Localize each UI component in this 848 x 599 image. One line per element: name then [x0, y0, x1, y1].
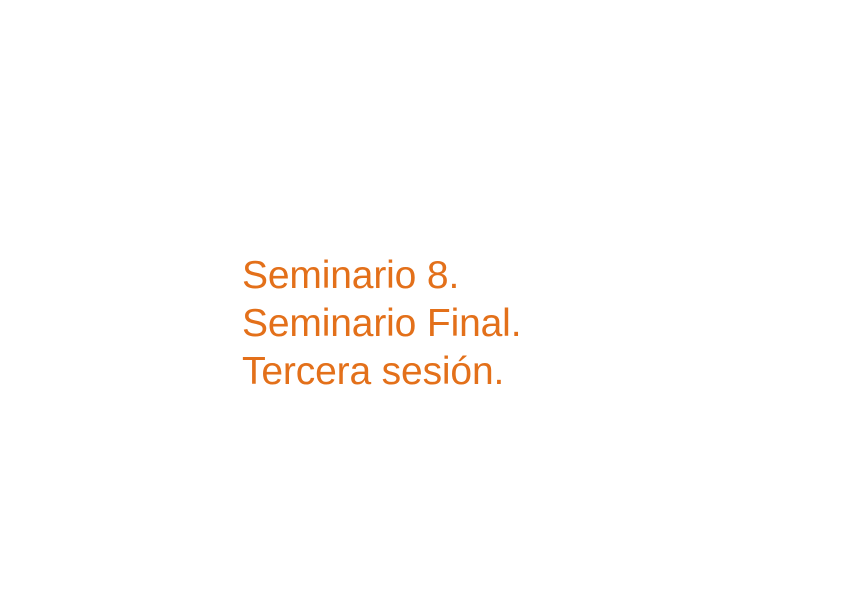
slide-title-line-2: Seminario Final.	[242, 300, 712, 348]
slide-title-text-box[interactable]: Seminario 8. Seminario Final. Tercera se…	[242, 252, 712, 396]
slide-canvas: Seminario 8. Seminario Final. Tercera se…	[0, 0, 848, 599]
slide-title-line-3: Tercera sesión.	[242, 348, 712, 396]
slide-title-line-1: Seminario 8.	[242, 252, 712, 300]
